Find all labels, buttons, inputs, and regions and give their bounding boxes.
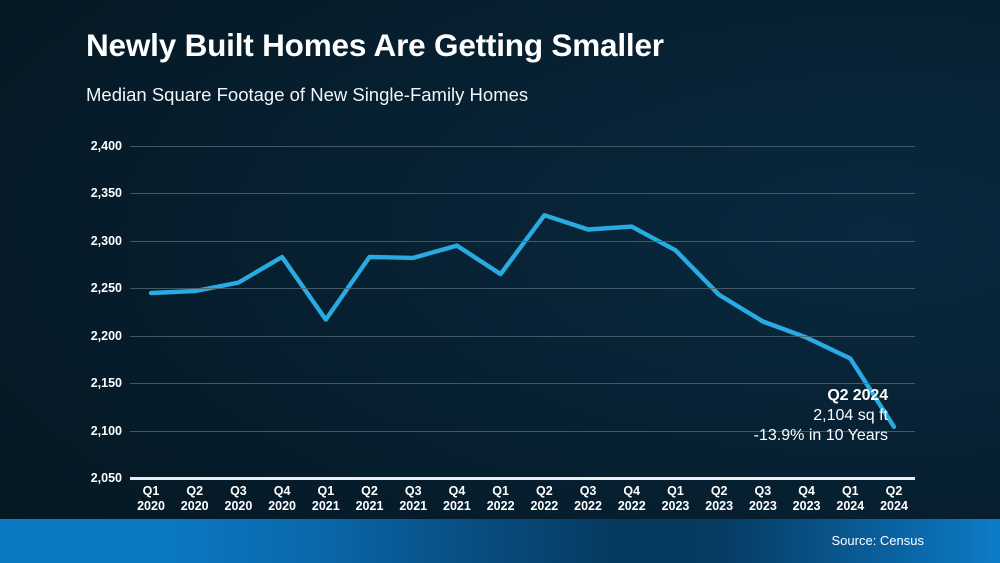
gridline [130, 336, 915, 337]
x-tick-year: 2024 [866, 499, 922, 514]
page-subtitle: Median Square Footage of New Single-Fami… [86, 84, 528, 106]
annotation-change: -13.9% in 10 Years [754, 426, 888, 446]
annotation-value: 2,104 sq ft [754, 406, 888, 426]
y-axis-tick-label: 2,100 [74, 424, 122, 438]
gridline [130, 241, 915, 242]
x-axis: Q12020Q22020Q32020Q42020Q12021Q22021Q320… [130, 484, 915, 524]
y-axis-tick-label: 2,300 [74, 234, 122, 248]
gridline [130, 288, 915, 289]
footer-bar: Source: Census [0, 519, 1000, 563]
x-axis-baseline [130, 477, 915, 480]
gridline [130, 193, 915, 194]
source-label: Source: Census [832, 533, 925, 548]
gridline [130, 146, 915, 147]
y-axis-tick-label: 2,250 [74, 281, 122, 295]
y-axis-tick-label: 2,400 [74, 139, 122, 153]
y-axis: 2,4002,3502,3002,2502,2002,1502,1002,050 [74, 0, 122, 563]
page-title: Newly Built Homes Are Getting Smaller [86, 27, 664, 64]
slide-root: Newly Built Homes Are Getting Smaller Me… [0, 0, 1000, 563]
y-axis-tick-label: 2,050 [74, 471, 122, 485]
gridline [130, 383, 915, 384]
x-axis-tick-label: Q22024 [866, 484, 922, 514]
x-tick-quarter: Q2 [866, 484, 922, 499]
callout-annotation: Q2 2024 2,104 sq ft -13.9% in 10 Years [754, 386, 888, 446]
y-axis-tick-label: 2,200 [74, 329, 122, 343]
y-axis-tick-label: 2,350 [74, 186, 122, 200]
annotation-quarter: Q2 2024 [754, 386, 888, 406]
y-axis-tick-label: 2,150 [74, 376, 122, 390]
